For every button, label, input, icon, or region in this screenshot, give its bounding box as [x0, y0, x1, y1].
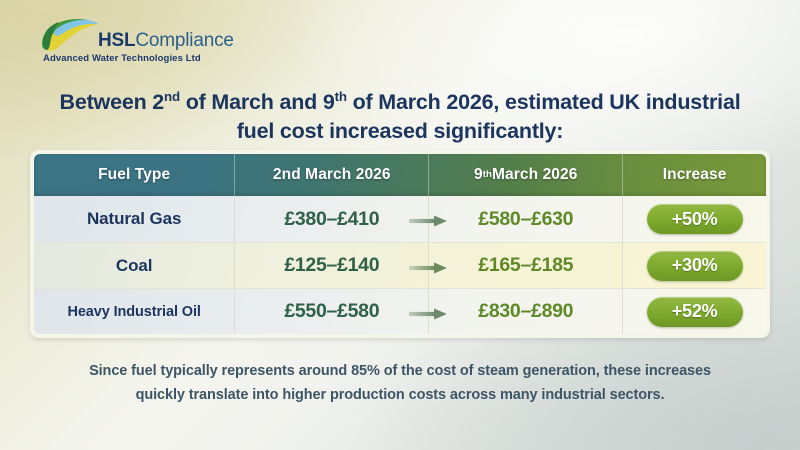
- cell-value-before: £380–£410: [235, 196, 429, 242]
- price-before: £125–£140: [284, 254, 379, 277]
- fuel-type-label: Natural Gas: [87, 209, 181, 229]
- cell-value-after: £165–£185: [429, 243, 623, 288]
- status-badge: +52%: [647, 297, 743, 327]
- fuel-cost-table: Fuel Type 2nd March 2026 9th March 2026 …: [30, 150, 770, 338]
- footer-line-1: Since fuel typically represents around 8…: [40, 360, 760, 384]
- right-arrow-icon: [409, 260, 447, 271]
- cell-fuel-type: Natural Gas: [34, 196, 235, 242]
- brand-tagline: Advanced Water Technologies Ltd: [43, 53, 201, 64]
- cell-fuel-type: Heavy Industrial Oil: [34, 289, 235, 334]
- headline-part-2: of March and 9: [180, 90, 335, 114]
- column-header-date-after: 9th March 2026: [429, 154, 623, 196]
- leaf-water-logo-icon: [38, 18, 100, 52]
- column-header-date-before: 2nd March 2026: [235, 154, 429, 196]
- cell-value-after: £830–£890: [429, 289, 623, 334]
- table-row: Coal £125–£140 £165–£185 +30%: [34, 242, 766, 288]
- cell-increase: +50%: [623, 196, 766, 242]
- column-header-increase: Increase: [623, 154, 766, 196]
- fuel-type-label: Heavy Industrial Oil: [67, 304, 200, 320]
- table-row: Natural Gas £380–£410 £580–£630 +50%: [34, 196, 766, 242]
- price-after: £580–£630: [478, 208, 573, 231]
- brand-wordmark: HSLCompliance: [98, 30, 234, 52]
- price-after: £830–£890: [478, 300, 573, 323]
- price-before: £380–£410: [284, 208, 379, 231]
- cell-value-before: £550–£580: [235, 289, 429, 334]
- headline-ordinal-2: th: [335, 89, 347, 104]
- headline-part-1: Between 2: [60, 90, 165, 114]
- price-after: £165–£185: [478, 254, 573, 277]
- column-header-fuel-type: Fuel Type: [34, 154, 235, 196]
- table-header-row: Fuel Type 2nd March 2026 9th March 2026 …: [34, 154, 766, 196]
- cell-increase: +52%: [623, 289, 766, 334]
- column-header-date-after-rest: March 2026: [492, 166, 577, 184]
- cell-increase: +30%: [623, 243, 766, 288]
- fuel-type-label: Coal: [116, 256, 152, 276]
- cell-value-after: £580–£630: [429, 196, 623, 242]
- footer-note: Since fuel typically represents around 8…: [40, 360, 760, 408]
- cell-value-before: £125–£140: [235, 243, 429, 288]
- price-before: £550–£580: [284, 300, 379, 323]
- right-arrow-icon: [409, 214, 447, 225]
- footer-line-2: quickly translate into higher production…: [40, 384, 760, 408]
- cell-fuel-type: Coal: [34, 243, 235, 288]
- status-badge: +50%: [647, 204, 743, 234]
- right-arrow-icon: [409, 306, 447, 317]
- table-row: Heavy Industrial Oil £550–£580 £830–£890…: [34, 288, 766, 334]
- brand-name-bold: HSL: [98, 30, 135, 51]
- page-title: Between 2nd of March and 9th of March 20…: [40, 88, 760, 146]
- column-header-date-after-number: 9: [474, 166, 483, 184]
- status-badge: +30%: [647, 251, 743, 281]
- brand-name-light: Compliance: [135, 30, 233, 51]
- headline-ordinal-1: nd: [164, 89, 180, 104]
